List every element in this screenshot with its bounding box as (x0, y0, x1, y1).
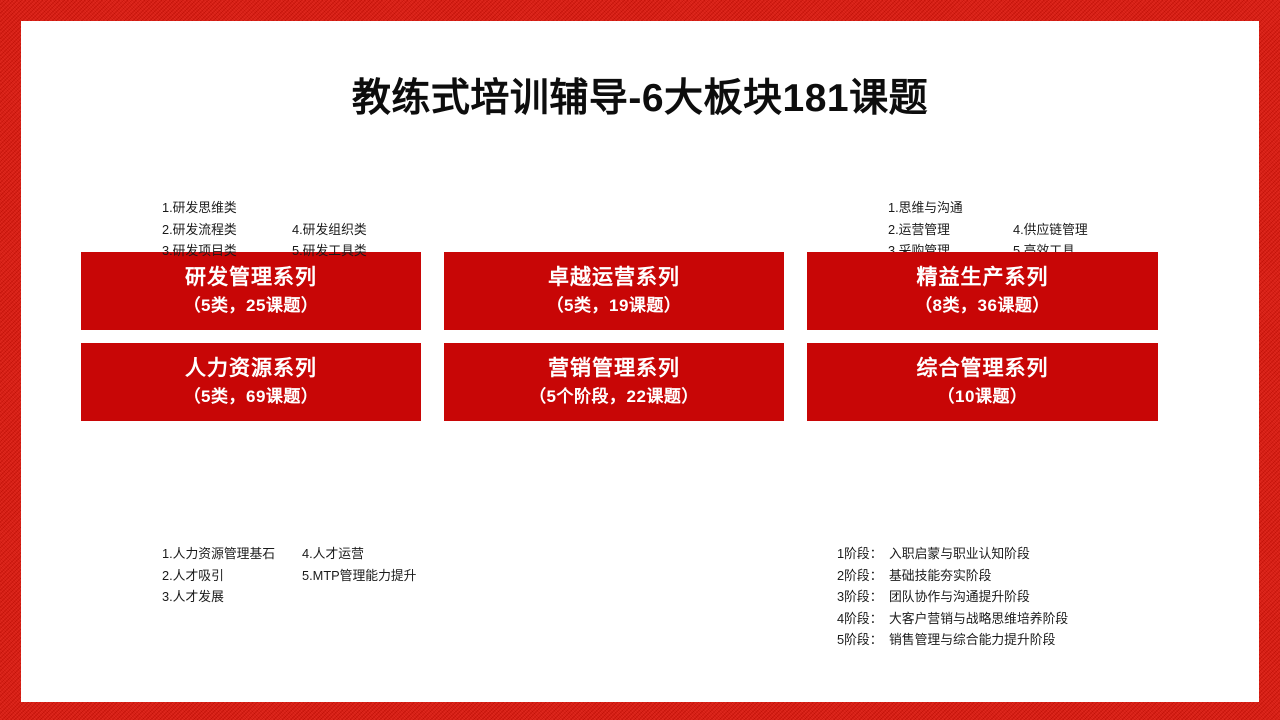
list-item: 3.研发项目类 (162, 240, 292, 262)
series-box-rd[interactable]: 研发管理系列 （5类，25课题） (81, 252, 421, 330)
phase-label: 大客户营销与战略思维培养阶段 (889, 611, 1068, 626)
phase-number: 4阶段： (837, 608, 889, 630)
series-col-marketing: 营销管理系列 （5个阶段，22课题） 1阶段：入职启蒙与职业认知阶段 2阶段：基… (444, 343, 784, 421)
series-title-rd: 研发管理系列 (185, 266, 317, 291)
list-item: 1.研发思维类 (162, 197, 292, 219)
series-subtitle-general: （10课题） (938, 386, 1028, 407)
list-item: 2.运营管理 (888, 219, 1013, 241)
list-item: 1阶段：入职启蒙与职业认知阶段 (837, 543, 1068, 565)
list-item: 3阶段：团队协作与沟通提升阶段 (837, 586, 1068, 608)
series-title-hr: 人力资源系列 (185, 357, 317, 382)
item-list-marketing: 1阶段：入职启蒙与职业认知阶段 2阶段：基础技能夯实阶段 3阶段：团队协作与沟通… (837, 543, 1068, 651)
list-item: 5.MTP管理能力提升 (302, 565, 462, 587)
item-list-hr: 1.人力资源管理基石 2.人才吸引 3.人才发展 4.人才运营 5.MTP管理能… (162, 543, 462, 608)
series-title-ops: 卓越运营系列 (548, 266, 680, 291)
phase-label: 销售管理与综合能力提升阶段 (889, 632, 1055, 647)
series-col-hr: 人力资源系列 （5类，69课题） 1.人力资源管理基石 2.人才吸引 3.人才发… (81, 343, 421, 421)
series-box-lean[interactable]: 精益生产系列 （8类，36课题） (807, 252, 1158, 330)
series-subtitle-lean: （8类，36课题） (915, 295, 1050, 316)
slide-canvas: 教练式培训辅导-6大板块181课题 1.研发思维类 2.研发流程类 3.研发项目… (21, 21, 1259, 702)
series-subtitle-rd: （5类，25课题） (184, 295, 319, 316)
phase-number: 1阶段： (837, 543, 889, 565)
list-item (302, 586, 462, 608)
slide-frame: 教练式培训辅导-6大板块181课题 1.研发思维类 2.研发流程类 3.研发项目… (0, 0, 1280, 720)
item-list-rd-left: 1.研发思维类 2.研发流程类 3.研发项目类 (162, 197, 292, 262)
series-row-bottom: 人力资源系列 （5类，69课题） 1.人力资源管理基石 2.人才吸引 3.人才发… (81, 343, 1211, 421)
series-subtitle-marketing: （5个阶段，22课题） (529, 386, 699, 407)
page-title: 教练式培训辅导-6大板块181课题 (21, 67, 1259, 123)
series-box-marketing[interactable]: 营销管理系列 （5个阶段，22课题） (444, 343, 784, 421)
series-box-general[interactable]: 综合管理系列 （10课题） (807, 343, 1158, 421)
series-title-marketing: 营销管理系列 (548, 357, 680, 382)
phase-number: 3阶段： (837, 586, 889, 608)
phase-number: 2阶段： (837, 565, 889, 587)
phase-label: 团队协作与沟通提升阶段 (889, 589, 1030, 604)
series-title-general: 综合管理系列 (917, 357, 1049, 382)
list-item: 5.研发工具类 (292, 240, 432, 262)
list-item: 4.研发组织类 (292, 219, 432, 241)
item-list-hr-right: 4.人才运营 5.MTP管理能力提升 (302, 543, 462, 608)
phase-number: 5阶段： (837, 629, 889, 651)
list-item (1013, 197, 1153, 219)
series-col-ops: 1.思维与沟通 2.运营管理 3.采购管理 4.供应链管理 5.高效工具 (444, 252, 784, 330)
item-list-rd-right: 4.研发组织类 5.研发工具类 (292, 197, 432, 262)
phase-label: 入职启蒙与职业认知阶段 (889, 546, 1030, 561)
list-item: 2阶段：基础技能夯实阶段 (837, 565, 1068, 587)
list-item: 4.人才运营 (302, 543, 462, 565)
list-item: 1.思维与沟通 (888, 197, 1013, 219)
item-list-rd: 1.研发思维类 2.研发流程类 3.研发项目类 4.研发组织类 5.研发工具类 (162, 197, 432, 262)
series-col-rd: 1.研发思维类 2.研发流程类 3.研发项目类 4.研发组织类 5.研发工具类 (81, 252, 421, 330)
series-col-lean: 1.角色认知与心态 2.高效执行行力及管理 3.可参观型精益现场打造 4.TWI… (807, 252, 1158, 330)
series-subtitle-ops: （5类，19课题） (547, 295, 682, 316)
series-box-ops[interactable]: 卓越运营系列 （5类，19课题） (444, 252, 784, 330)
list-item: 4.供应链管理 (1013, 219, 1153, 241)
series-subtitle-hr: （5类，69课题） (184, 386, 319, 407)
series-col-general: 综合管理系列 （10课题） 1.角色认知 2.目标管理与计划实施 3.高效时间管… (807, 343, 1158, 421)
series-title-lean: 精益生产系列 (917, 266, 1049, 291)
series-row-top: 1.研发思维类 2.研发流程类 3.研发项目类 4.研发组织类 5.研发工具类 (81, 252, 1211, 330)
series-box-hr[interactable]: 人力资源系列 （5类，69课题） (81, 343, 421, 421)
list-item (292, 197, 432, 219)
phase-label: 基础技能夯实阶段 (889, 568, 991, 583)
list-item: 1.人力资源管理基石 (162, 543, 302, 565)
item-list-hr-left: 1.人力资源管理基石 2.人才吸引 3.人才发展 (162, 543, 302, 608)
list-item: 4阶段：大客户营销与战略思维培养阶段 (837, 608, 1068, 630)
list-item: 5阶段：销售管理与综合能力提升阶段 (837, 629, 1068, 651)
list-item: 2.人才吸引 (162, 565, 302, 587)
list-item: 3.人才发展 (162, 586, 302, 608)
list-item: 2.研发流程类 (162, 219, 292, 241)
series-grid: 1.研发思维类 2.研发流程类 3.研发项目类 4.研发组织类 5.研发工具类 (81, 252, 1211, 421)
